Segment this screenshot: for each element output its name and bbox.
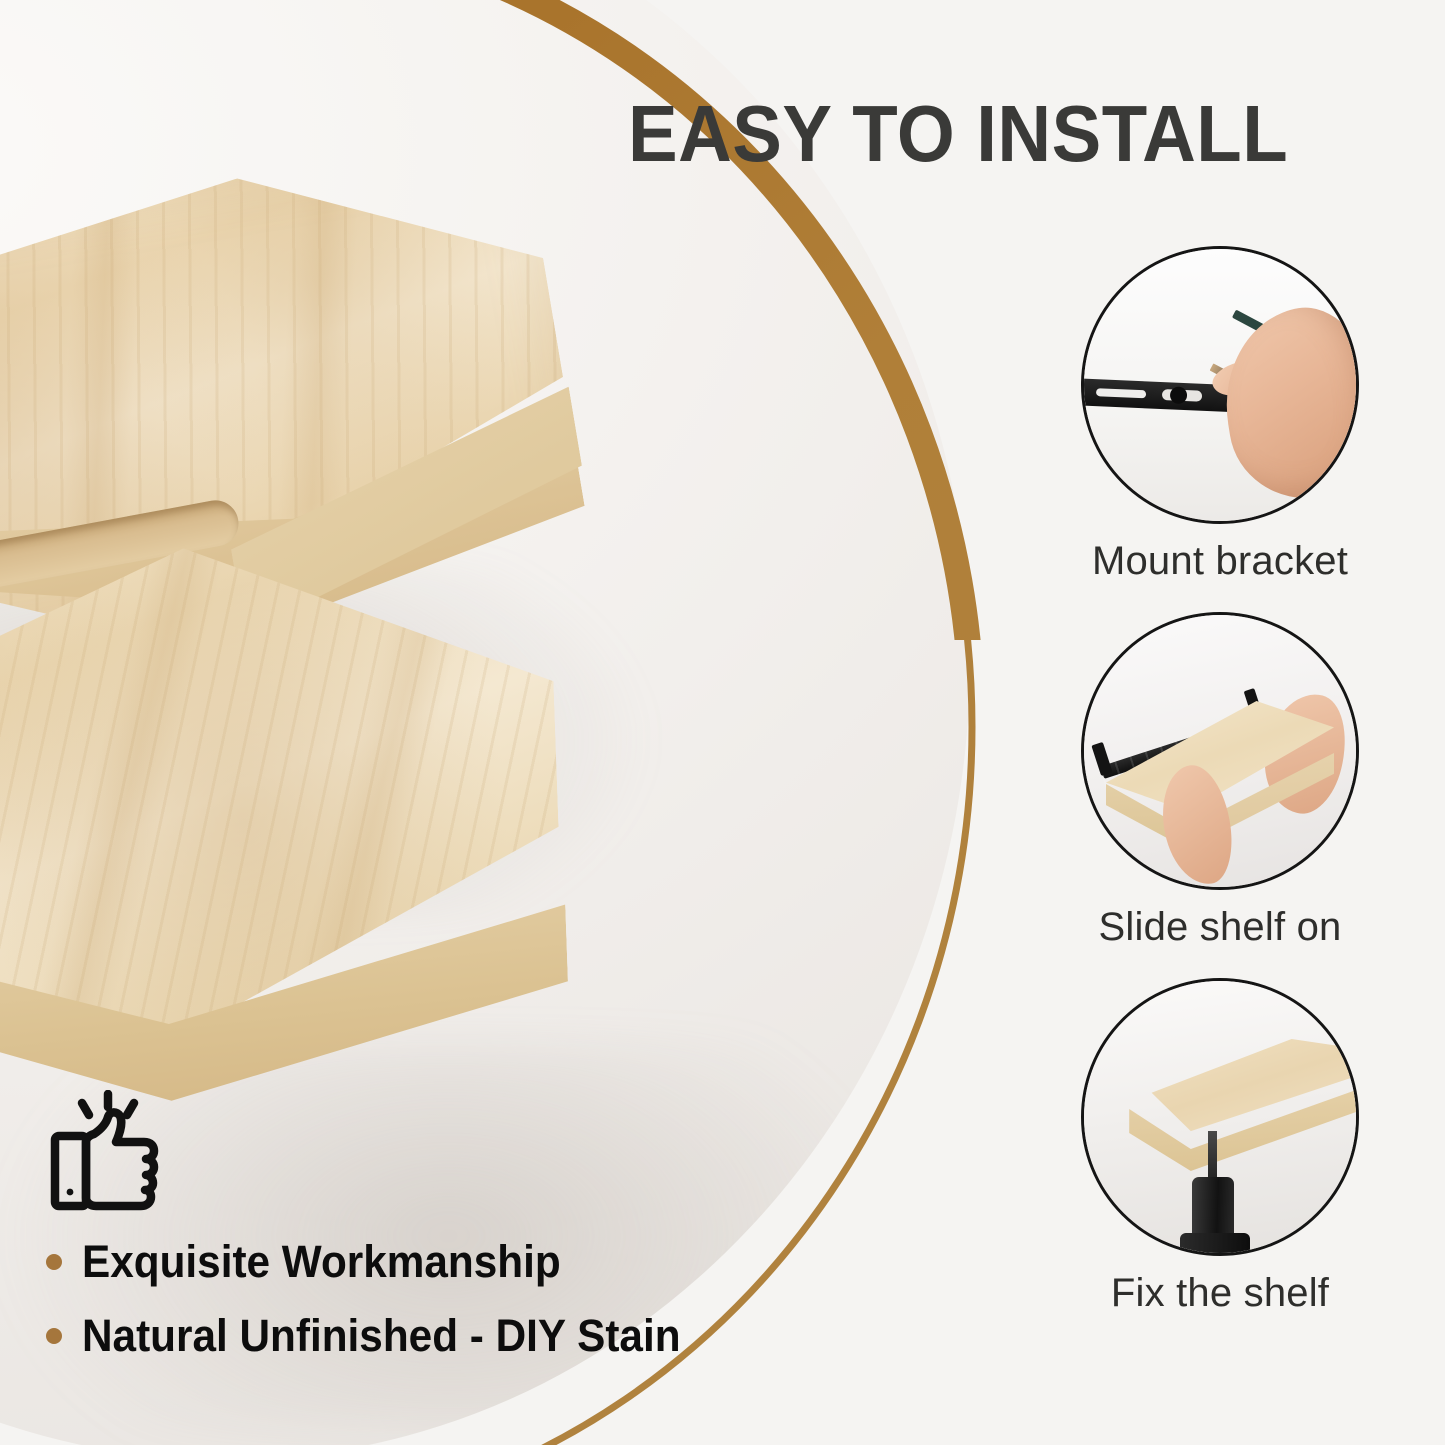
step-label: Fix the shelf (1020, 1268, 1420, 1318)
bracket-hole (1170, 386, 1188, 404)
slide-shelf-on-photo (1081, 612, 1359, 890)
fix-the-shelf-photo (1081, 978, 1359, 1256)
install-steps-list: Mount bracket Slide shelf on (1020, 246, 1420, 1344)
list-item: Exquisite Workmanship (46, 1236, 806, 1288)
feature-text: Exquisite Workmanship (82, 1236, 561, 1288)
step-label: Mount bracket (1020, 536, 1420, 586)
features-block: Exquisite Workmanship Natural Unfinished… (46, 1090, 806, 1384)
bracket-slot (1096, 388, 1146, 398)
list-item: Natural Unfinished - DIY Stain (46, 1310, 806, 1362)
step-slide-shelf-on[interactable]: Slide shelf on (1020, 612, 1420, 952)
mounted-shelf (1090, 1039, 1359, 1179)
page-title: EASY TO INSTALL (628, 92, 1344, 176)
infographic-canvas: EASY TO INSTALL Mount bracket (0, 0, 1445, 1445)
thumbs-up-icon (46, 1090, 178, 1218)
step-mount-bracket[interactable]: Mount bracket (1020, 246, 1420, 586)
drill-body (1180, 1233, 1250, 1256)
feature-text: Natural Unfinished - DIY Stain (82, 1310, 681, 1362)
step-label: Slide shelf on (1020, 902, 1420, 952)
bullet-dot (46, 1254, 62, 1270)
mount-bracket-photo (1081, 246, 1359, 524)
bullet-dot (46, 1328, 62, 1344)
step-fix-the-shelf[interactable]: Fix the shelf (1020, 978, 1420, 1318)
feature-list: Exquisite Workmanship Natural Unfinished… (46, 1236, 806, 1362)
